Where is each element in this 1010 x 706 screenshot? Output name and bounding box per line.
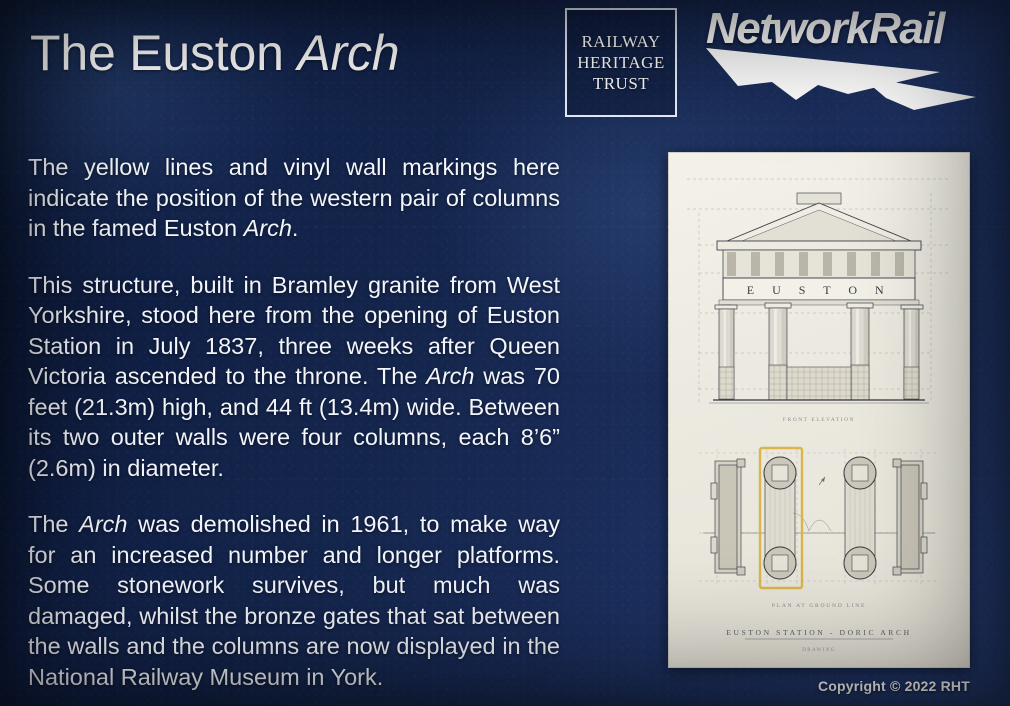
elevation-caption: FRONT ELEVATION [783, 417, 855, 423]
network-rail-swoosh-icon [700, 42, 992, 110]
text-segment: . [292, 215, 299, 241]
railway-heritage-trust-logo: RAILWAY HERITAGE TRUST [565, 8, 677, 117]
euston-arch-drawing: E U S T O N [669, 153, 969, 667]
sheet-subtitle: DRAWING [802, 648, 836, 653]
rht-logo-line-1: RAILWAY [581, 31, 660, 52]
text-segment-italic: Arch [426, 363, 474, 389]
paragraph-2: This structure, built in Bramley granite… [28, 270, 560, 484]
text-segment: was demolished in 1961, to make way for … [28, 511, 560, 690]
text-segment-italic: Arch [244, 215, 292, 241]
page-title: The Euston Arch [30, 24, 399, 82]
plan-caption: PLAN AT GROUND LINE [772, 603, 866, 609]
rht-logo-line-3: TRUST [593, 73, 649, 94]
copyright-notice: Copyright © 2022 RHT [818, 678, 970, 694]
sheet-title: EUSTON STATION - DORIC ARCH [726, 628, 911, 637]
body-text-column: The yellow lines and vinyl wall markings… [28, 152, 560, 692]
elevation-drawing: E U S T O N [687, 179, 951, 403]
frieze-lettering: E U S T O N [747, 283, 891, 297]
interpretive-sign-panel: The Euston Arch RAILWAY HERITAGE TRUST N… [0, 0, 1010, 706]
plan-drawing [699, 448, 939, 588]
rht-logo-line-2: HERITAGE [577, 52, 665, 73]
network-rail-logo: NetworkRail [700, 2, 992, 110]
text-segment: The [28, 511, 79, 537]
page-title-main: The Euston [30, 25, 297, 81]
architectural-drawing-plate: E U S T O N [668, 152, 970, 668]
paragraph-3: The Arch was demolished in 1961, to make… [28, 509, 560, 692]
page-title-italic: Arch [297, 25, 399, 81]
paragraph-1: The yellow lines and vinyl wall markings… [28, 152, 560, 244]
text-segment-italic: Arch [79, 511, 127, 537]
